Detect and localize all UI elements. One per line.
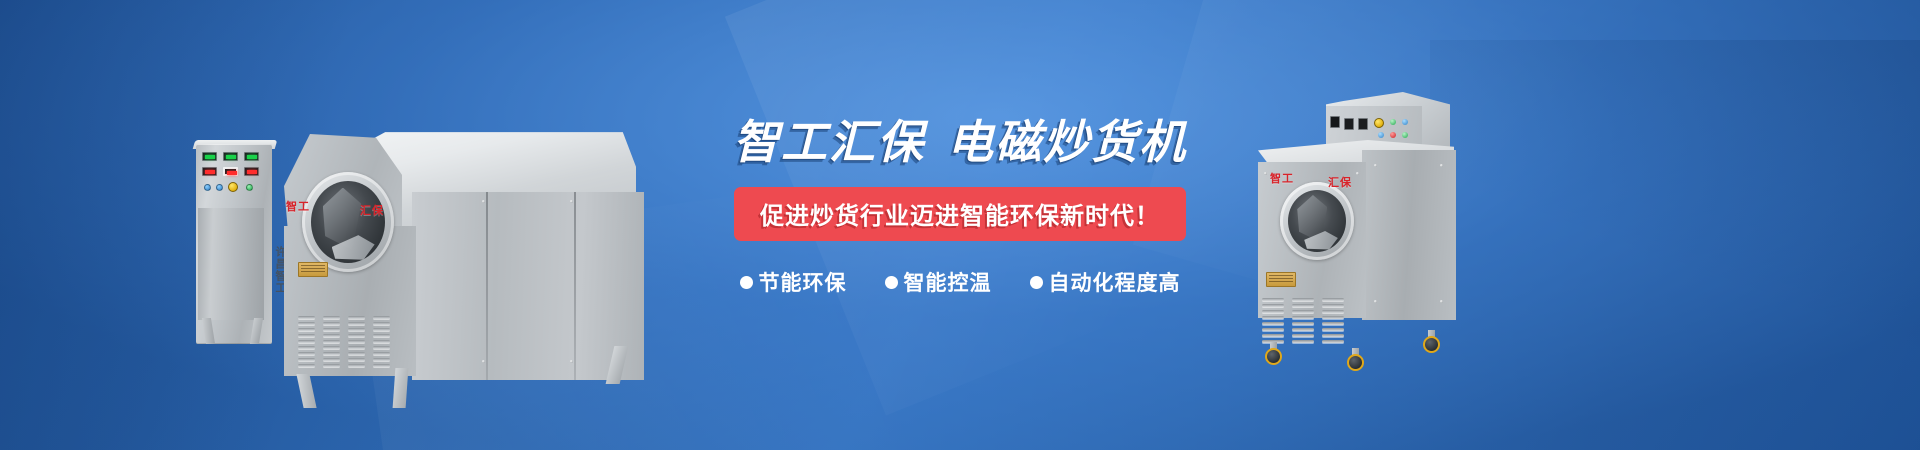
spec-plate [298, 262, 328, 277]
drum-interior-right [1288, 190, 1346, 252]
push-button-blue-1[interactable] [204, 184, 211, 191]
ventilation-louvers-right [1262, 298, 1344, 343]
cabinet-leg-right [250, 318, 263, 344]
indicator-blue-2 [1378, 132, 1384, 138]
banner-copy: 智工汇保电磁炒货机 促进炒货行业迈进智能环保新时代！ 节能环保 智能控温 自动化… [700, 118, 1220, 297]
side-door-seam-2 [574, 192, 576, 380]
feature-item-smart-temperature: 智能控温 [885, 267, 992, 297]
roasting-drum-opening-right [1280, 182, 1354, 260]
brand-mark-zhigong-right: 智工 [1270, 170, 1294, 186]
feature-label: 自动化程度高 [1049, 267, 1181, 297]
roasting-drum-opening [302, 172, 394, 272]
rivet [1356, 172, 1359, 175]
display-red-2 [223, 167, 238, 176]
indicator-green-1 [1390, 119, 1396, 125]
drum-interior [311, 181, 385, 263]
banner-ribbon: 促进炒货行业迈进智能环保新时代！ [734, 187, 1186, 241]
banner-ribbon-wrap: 促进炒货行业迈进智能环保新时代！ [700, 187, 1220, 241]
cabinet-leg-left [202, 318, 215, 344]
push-button-blue-2[interactable] [216, 184, 223, 191]
headline-brand: 智工汇保 [733, 116, 925, 168]
bullet-dot-icon [740, 276, 753, 289]
bullet-dot-icon [1030, 276, 1043, 289]
caster-wheel-right [1423, 336, 1440, 353]
caster-wheel-center [1347, 354, 1364, 371]
brand-mark-huibao-right: 汇保 [1328, 174, 1352, 190]
cabinet-door [198, 208, 264, 320]
headline-product: 电磁炒货机 [947, 116, 1187, 168]
side-door-seam-1 [486, 192, 488, 380]
indicator-red-1 [1390, 132, 1396, 138]
feature-list: 节能环保 智能控温 自动化程度高 [700, 267, 1220, 297]
machine-side-right [1362, 150, 1456, 320]
ventilation-louvers [298, 316, 390, 367]
emergency-stop-knob-right[interactable] [1374, 118, 1384, 128]
display-green-3 [244, 152, 259, 161]
display-red-3 [244, 167, 259, 176]
machine-body-right: 智工 汇保 [1258, 140, 1454, 320]
support-leg-front-right [393, 368, 409, 408]
caster-wheel-left [1265, 348, 1282, 365]
push-button-green[interactable] [246, 184, 253, 191]
rivet [1264, 172, 1267, 175]
display-green-1 [202, 152, 217, 161]
rivet [1374, 164, 1377, 167]
machine-side-panel [412, 192, 644, 380]
display-green-2 [223, 152, 238, 161]
rivet [482, 200, 485, 203]
support-leg-front-left [296, 374, 316, 408]
machine-body: 智工 汇保 [284, 130, 656, 370]
feature-label: 节能环保 [759, 267, 847, 297]
feature-item-energy-saving: 节能环保 [740, 267, 847, 297]
banner-headline: 智工汇保电磁炒货机 [700, 118, 1220, 166]
display-red-1 [202, 167, 217, 176]
rivet [1440, 164, 1443, 167]
rivet [570, 200, 573, 203]
indicator-green-2 [1402, 132, 1408, 138]
display-red-right-2 [1358, 118, 1368, 130]
feature-item-automation: 自动化程度高 [1030, 267, 1181, 297]
machine-base-right [1262, 298, 1450, 360]
indicator-blue-1 [1402, 119, 1408, 125]
feature-label: 智能控温 [904, 267, 992, 297]
brand-mark-huibao: 汇保 [360, 202, 384, 218]
spec-plate-right [1266, 272, 1296, 287]
bullet-dot-icon [885, 276, 898, 289]
rivet [482, 360, 485, 363]
emergency-stop-knob[interactable] [228, 182, 238, 192]
brand-mark-zhigong: 智工 [286, 198, 310, 214]
product-image-left-machine: 许昌智工 智工 汇保 [196, 96, 676, 396]
switch-1[interactable] [1330, 116, 1340, 128]
promo-banner: 许昌智工 智工 汇保 [0, 0, 1920, 450]
control-panel [200, 152, 262, 204]
product-image-right-machine: 智工 汇保 [1248, 92, 1508, 388]
cabinet-legs [202, 318, 264, 344]
rivet [570, 360, 573, 363]
display-red-right-1 [1344, 118, 1354, 130]
